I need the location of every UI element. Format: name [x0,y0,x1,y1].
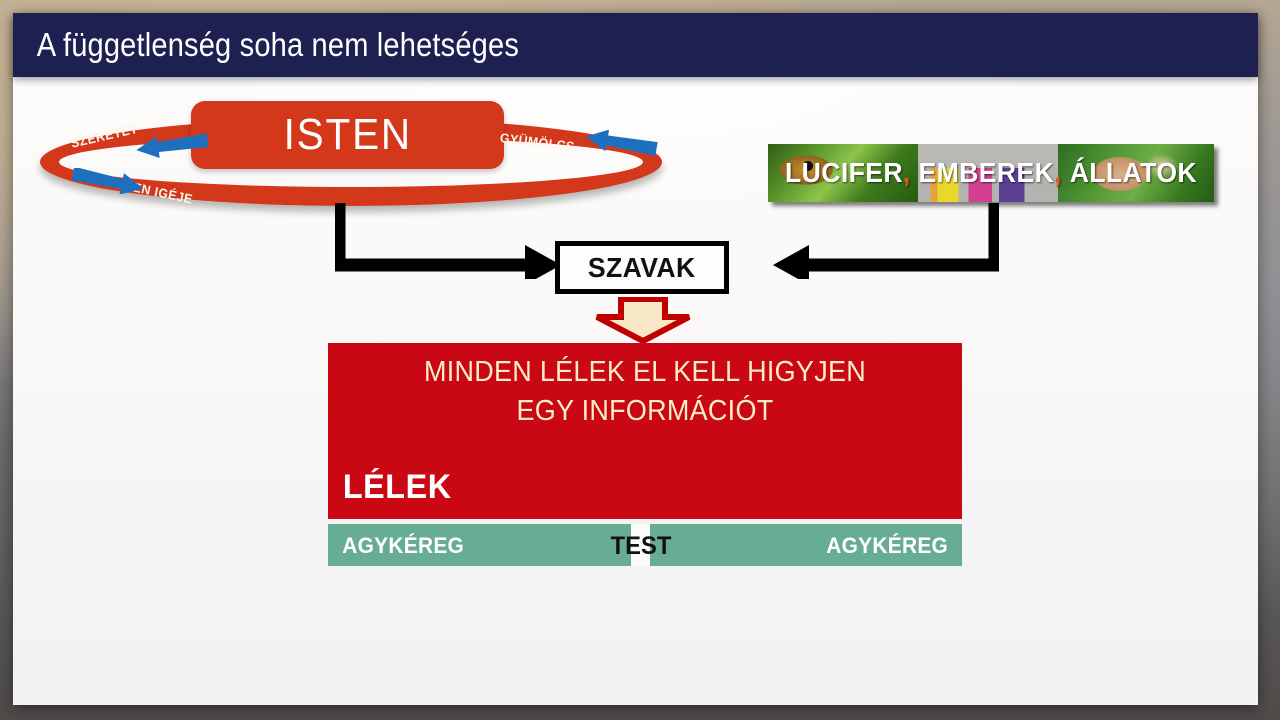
sources-part-emberek: EMBEREK [911,157,1054,188]
sources-banner-label: LUCIFER, EMBEREK, ÁLLATOK [779,157,1203,189]
blue-arrow-left-gyumolcs [585,130,659,156]
szavak-box[interactable]: SZAVAK [555,241,729,294]
statement-line-1: MINDEN LÉLEK EL KELL HIGYJEN [350,353,940,392]
soul-label: LÉLEK [343,468,452,507]
god-cycle-diagram: ISTEN SZERETET ISTEN IGÉJE GYÜMÖLCS [40,118,665,208]
statement-headline: MINDEN LÉLEK EL KELL HIGYJEN EGY INFORMÁ… [350,353,940,430]
presentation-stage: A függetlenség soha nem lehetséges ISTEN… [0,0,1280,720]
statement-block: MINDEN LÉLEK EL KELL HIGYJEN EGY INFORMÁ… [328,343,962,519]
sources-part-allatok: ÁLLATOK [1062,157,1197,188]
body-bar: AGYKÉREG TEST AGYKÉREG [328,524,962,566]
sources-part-lucifer: LUCIFER [785,157,903,188]
sources-banner[interactable]: LUCIFER, EMBEREK, ÁLLATOK [768,144,1214,202]
page-title: A függetlenség soha nem lehetséges [13,26,519,64]
isten-box[interactable]: ISTEN [191,101,504,169]
test-label: TEST [611,532,672,561]
blue-arrow-right-isten-igeje [72,168,144,194]
down-arrow-icon [594,297,692,343]
statement-line-2: EGY INFORMÁCIÓT [350,392,940,431]
agykereg-label-left: AGYKÉREG [342,533,464,559]
agykereg-label-right: AGYKÉREG [826,533,948,559]
blue-arrow-left-szeretet [136,132,210,158]
connector-arrow-cycle-to-words [335,203,561,279]
isten-label: ISTEN [283,110,411,160]
sources-comma-2: , [1054,157,1062,188]
szavak-label: SZAVAK [588,252,696,284]
connector-arrow-sources-to-words [723,203,999,279]
slide-title-banner: A függetlenség soha nem lehetséges [13,13,1258,77]
